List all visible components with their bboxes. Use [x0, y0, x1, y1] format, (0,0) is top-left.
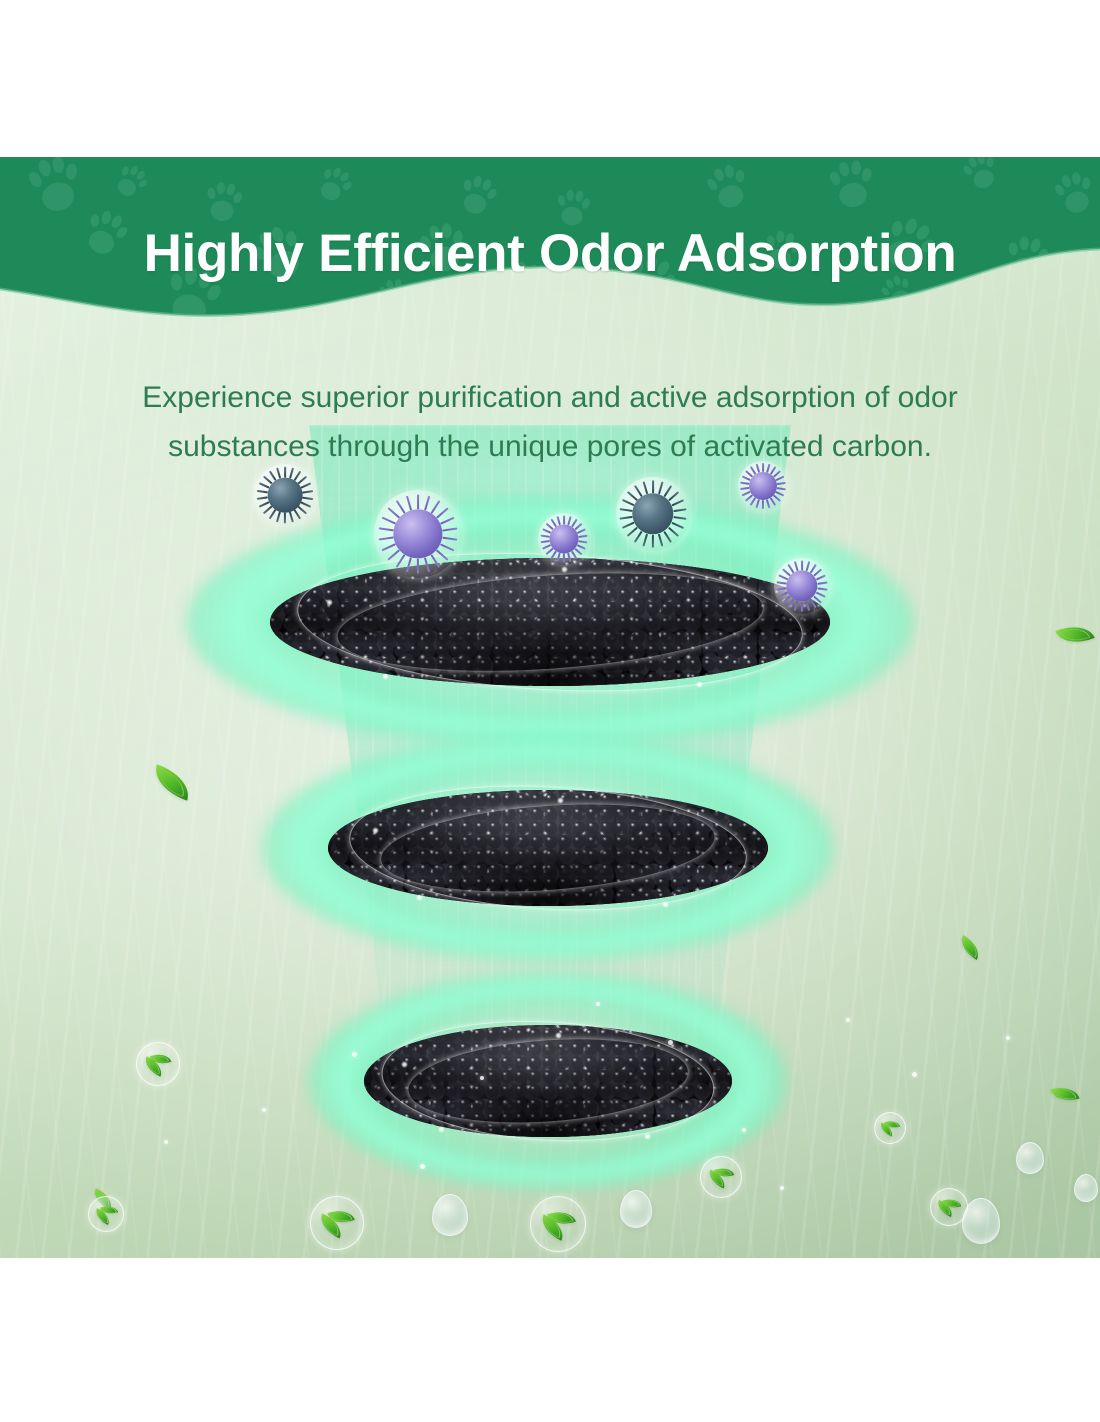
- droplet-1: [432, 1194, 468, 1236]
- sparkle-icon: [401, 1061, 408, 1068]
- sparkle-dot-icon: [480, 1076, 484, 1080]
- germ-teal-1: [254, 464, 316, 526]
- page-title: Highly Efficient Odor Adsorption: [0, 227, 1100, 280]
- sparkle-dot-icon: [780, 1186, 784, 1190]
- germ-core: [549, 524, 578, 553]
- sparkle-icon: [561, 566, 568, 573]
- sparkle-dot-icon: [420, 1164, 425, 1169]
- leaf-bubble-2: [88, 1196, 124, 1232]
- page-subtitle: Experience superior purification and act…: [80, 374, 1020, 471]
- sparkle-icon: [644, 1133, 651, 1140]
- droplet-4: [1016, 1142, 1044, 1174]
- sparkle-dot-icon: [846, 1018, 850, 1022]
- sparkle-icon: [557, 797, 564, 804]
- leaf-left-upper: [149, 764, 195, 800]
- germ-core: [268, 478, 303, 513]
- sparkle-dot-icon: [668, 1040, 673, 1045]
- sparkle-dot-icon: [742, 1128, 746, 1132]
- sparkle-dot-icon: [164, 1140, 168, 1144]
- leaf-bubble-3: [310, 1196, 364, 1250]
- sparkle-dot-icon: [1006, 1036, 1010, 1040]
- droplet-2: [620, 1190, 652, 1228]
- droplet-5: [1074, 1174, 1098, 1202]
- sparkle-dot-icon: [596, 1002, 600, 1006]
- leaf-right-upper: [1055, 618, 1094, 650]
- infographic-page: Highly Efficient Odor Adsorption Experie…: [0, 0, 1100, 1422]
- germ-purple-1: [374, 490, 462, 578]
- leaf-bubble-4: [530, 1196, 586, 1252]
- leaf-bubble-1: [136, 1042, 180, 1086]
- sparkle-icon: [326, 599, 333, 606]
- paw-print-icon: [599, 286, 639, 325]
- leaf-right-low: [1050, 1083, 1079, 1105]
- sparkle-icon: [438, 1126, 445, 1133]
- germ-purple-2: [538, 513, 590, 565]
- droplet-3: [962, 1198, 1000, 1244]
- sparkle-dot-icon: [262, 1108, 266, 1112]
- sparkle-dot-icon: [912, 1072, 917, 1077]
- leaf-bubble-5: [700, 1156, 742, 1198]
- leaf-right-mid: [956, 935, 984, 960]
- germ-purple-4: [774, 558, 830, 614]
- germ-teal-2: [616, 477, 690, 551]
- leaf-bubble-7: [874, 1112, 906, 1144]
- germ-core: [749, 472, 777, 500]
- sparkle-icon: [696, 681, 703, 688]
- sparkle-dot-icon: [352, 1052, 357, 1057]
